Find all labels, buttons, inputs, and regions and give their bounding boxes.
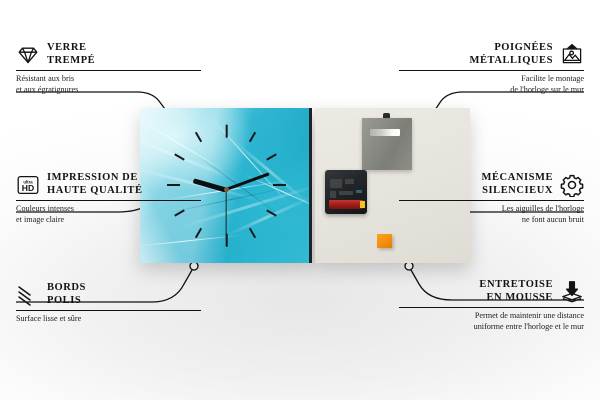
feature-impression-title-2: HAUTE QUALITÉ xyxy=(47,185,143,198)
connector-endpoint-entretoise xyxy=(405,262,413,270)
polished-edge-lines-icon xyxy=(16,283,40,307)
feature-entretoise-en-mousse: ENTRETOISE EN MOUSSE Permet de maintenir… xyxy=(399,279,584,332)
feature-poignees-header: POIGNÉES MÉTALLIQUES xyxy=(399,42,584,67)
feature-entretoise-desc-2: uniforme entre l'horloge et le mur xyxy=(399,322,584,332)
feature-mecanisme-header: MÉCANISME SILENCIEUX xyxy=(399,172,584,197)
feature-impression-title-1: IMPRESSION DE xyxy=(47,172,143,185)
feature-poignees-title-1: POIGNÉES xyxy=(470,42,553,55)
feature-impression-desc-1: Couleurs intenses xyxy=(16,204,201,214)
feature-bords-title-2: POLIS xyxy=(47,295,86,308)
feature-mecanisme-desc-2: ne font aucun bruit xyxy=(399,215,584,225)
clock-tick-7 xyxy=(195,228,202,239)
feature-verre-desc-1: Résistant aux bris xyxy=(16,74,201,84)
feature-poignees-title-2: MÉTALLIQUES xyxy=(470,55,553,68)
ultra-hd-large-label: HD xyxy=(22,183,34,193)
foam-spacer xyxy=(377,234,392,248)
feature-verre-rule xyxy=(16,70,201,71)
clock-tick-11 xyxy=(195,132,202,143)
clock-tick-5 xyxy=(249,228,256,239)
feature-entretoise-rule xyxy=(399,307,584,308)
feature-verre-title-2: TREMPÉ xyxy=(47,55,95,68)
feature-verre-desc-2: et aux égratignures xyxy=(16,85,201,95)
feature-mecanisme-rule xyxy=(399,200,584,201)
clock-second-hand xyxy=(225,190,226,240)
arrow-down-onto-foam-icon xyxy=(560,280,584,304)
mechanism-hanger-loop xyxy=(339,170,354,174)
ultra-hd-badge-icon: ultra HD xyxy=(16,173,40,197)
feature-poignees-desc-1: Facilite le montage xyxy=(399,74,584,84)
feature-mecanisme-desc-1: Les aiguilles de l'horloge xyxy=(399,204,584,214)
feature-impression-header: ultra HD IMPRESSION DE HAUTE QUALITÉ xyxy=(16,172,201,197)
feature-verre-header: VERRE TREMPÉ xyxy=(16,42,201,67)
feature-impression-haute-qualite: ultra HD IMPRESSION DE HAUTE QUALITÉ Cou… xyxy=(16,172,201,225)
connector-endpoint-bords xyxy=(190,262,198,270)
framed-picture-hanging-icon xyxy=(560,43,584,67)
clock-tick-12 xyxy=(225,125,227,138)
feature-mecanisme-title-1: MÉCANISME xyxy=(482,172,553,185)
diamond-icon xyxy=(16,43,40,67)
feature-bords-title-1: BORDS xyxy=(47,282,86,295)
feature-entretoise-title-2: EN MOUSSE xyxy=(479,292,553,305)
feature-mecanisme-title-2: SILENCIEUX xyxy=(482,185,553,198)
clock-tick-1 xyxy=(249,132,256,143)
feature-poignees-desc-2: de l'horloge sur le mur xyxy=(399,85,584,95)
feature-verre-trempe: VERRE TREMPÉ Résistant aux bris et aux é… xyxy=(16,42,201,95)
feature-bords-rule xyxy=(16,310,201,311)
feature-impression-rule xyxy=(16,200,201,201)
feature-bords-desc-1: Surface lisse et sûre xyxy=(16,314,201,324)
metal-hanger-plate xyxy=(362,118,412,170)
clock-tick-2 xyxy=(266,153,277,160)
feature-entretoise-desc-1: Permet de maintenir une distance xyxy=(399,311,584,321)
feature-entretoise-header: ENTRETOISE EN MOUSSE xyxy=(399,279,584,304)
feature-bords-polis: BORDS POLIS Surface lisse et sûre xyxy=(16,282,201,325)
feature-verre-title-1: VERRE xyxy=(47,42,95,55)
infographic-canvas: VERRE TREMPÉ Résistant aux bris et aux é… xyxy=(0,0,600,400)
gear-icon xyxy=(560,173,584,197)
feature-poignees-rule xyxy=(399,70,584,71)
quartz-mechanism xyxy=(325,170,367,214)
feature-bords-header: BORDS POLIS xyxy=(16,282,201,307)
aa-battery xyxy=(329,200,363,209)
clock-center-hub xyxy=(224,187,229,192)
clock-tick-3 xyxy=(273,184,286,186)
feature-poignees-metalliques: POIGNÉES MÉTALLIQUES Facilite le montage… xyxy=(399,42,584,95)
feature-mecanisme-silencieux: MÉCANISME SILENCIEUX Les aiguilles de l'… xyxy=(399,172,584,225)
feature-entretoise-title-1: ENTRETOISE xyxy=(479,279,553,292)
feature-impression-desc-2: et image claire xyxy=(16,215,201,225)
